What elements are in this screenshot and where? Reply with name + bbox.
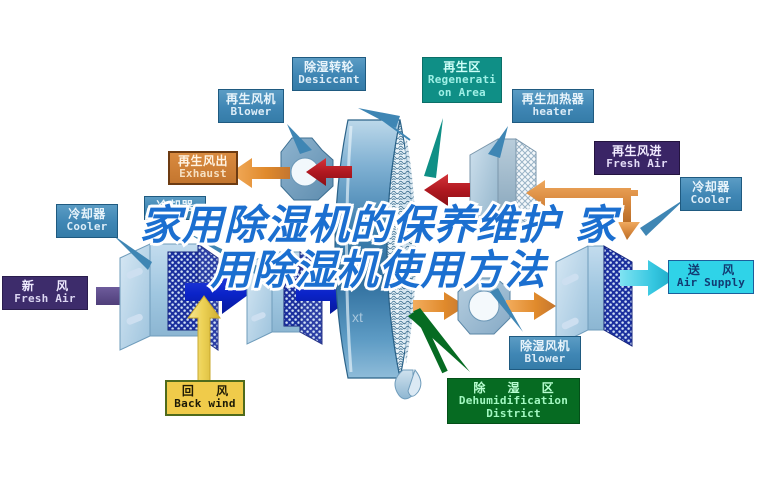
regen-hot-arrow-2	[424, 174, 470, 206]
label-cooler-left-a-cn: 冷却器	[61, 208, 113, 221]
label-desiccant[interactable]: 除湿转轮 Desiccant	[292, 57, 366, 91]
label-back-wind-en: Back wind	[171, 398, 239, 410]
label-exhaust-cn: 再生风出	[174, 155, 232, 168]
regeneration-heater	[470, 139, 536, 232]
label-cooler-right[interactable]: 冷却器 Cooler	[680, 177, 742, 211]
label-fresh-air[interactable]: 新 风 Fresh Air	[2, 276, 88, 310]
label-regen-blower-en: Blower	[223, 106, 279, 118]
label-back-wind[interactable]: 回 风 Back wind	[165, 380, 245, 416]
label-air-supply-en: Air Supply	[673, 277, 749, 289]
watermark-text: xt	[352, 309, 363, 325]
label-fresh-air-cn: 新 风	[7, 280, 83, 293]
label-exhaust-en: Exhaust	[174, 168, 232, 180]
label-dehumidification-district-cn: 除 湿 区	[452, 382, 575, 395]
label-air-supply[interactable]: 送 风 Air Supply	[668, 260, 754, 294]
label-regen-fresh-air[interactable]: 再生风进 Fresh Air	[594, 141, 680, 175]
desiccant-rotor: xt	[335, 120, 416, 378]
label-regeneration-area-en1: Regenerati	[427, 74, 497, 86]
label-desiccant-cn: 除湿转轮	[297, 61, 361, 74]
label-regeneration-area[interactable]: 再生区 Regenerati on Area	[422, 57, 502, 103]
label-dehumidification-district[interactable]: 除 湿 区 Dehumidification District	[447, 378, 580, 424]
regen-fresh-air-arrow	[526, 180, 640, 240]
label-regeneration-area-en2: on Area	[427, 87, 497, 99]
diagram-canvas: xt	[0, 0, 757, 488]
label-dehumidification-district-en1: Dehumidification	[452, 395, 575, 407]
label-regen-blower[interactable]: 再生风机 Blower	[218, 89, 284, 123]
label-regen-fresh-air-cn: 再生风进	[599, 145, 675, 158]
label-cooler-right-cn: 冷却器	[685, 181, 737, 194]
label-regen-blower-cn: 再生风机	[223, 93, 279, 106]
label-regen-heater-en: heater	[517, 106, 589, 118]
label-fresh-air-en: Fresh Air	[7, 293, 83, 305]
label-air-supply-cn: 送 风	[673, 264, 749, 277]
label-dehumid-blower-cn: 除湿风机	[514, 340, 576, 353]
schematic-graphics: xt	[0, 0, 757, 488]
label-regen-heater[interactable]: 再生加热器 heater	[512, 89, 594, 123]
label-exhaust[interactable]: 再生风出 Exhaust	[168, 151, 238, 185]
label-cooler-left-a-en: Cooler	[61, 221, 113, 233]
label-regen-heater-cn: 再生加热器	[517, 93, 589, 106]
label-dehumidification-district-en2: District	[452, 408, 575, 420]
supply-unit	[556, 246, 632, 346]
label-cooler-left-a[interactable]: 冷却器 Cooler	[56, 204, 118, 238]
label-desiccant-en: Desiccant	[297, 74, 361, 86]
label-dehumid-blower-en: Blower	[514, 353, 576, 365]
label-cooler-right-en: Cooler	[685, 194, 737, 206]
label-regen-fresh-air-en: Fresh Air	[599, 158, 675, 170]
label-back-wind-cn: 回 风	[171, 385, 239, 398]
label-dehumid-blower[interactable]: 除湿风机 Blower	[509, 336, 581, 370]
label-regeneration-area-cn: 再生区	[427, 61, 497, 74]
label-cooler-left-b[interactable]: 冷却器	[144, 196, 206, 220]
condensate-drop	[395, 370, 421, 399]
label-cooler-left-b-cn: 冷却器	[149, 200, 201, 213]
